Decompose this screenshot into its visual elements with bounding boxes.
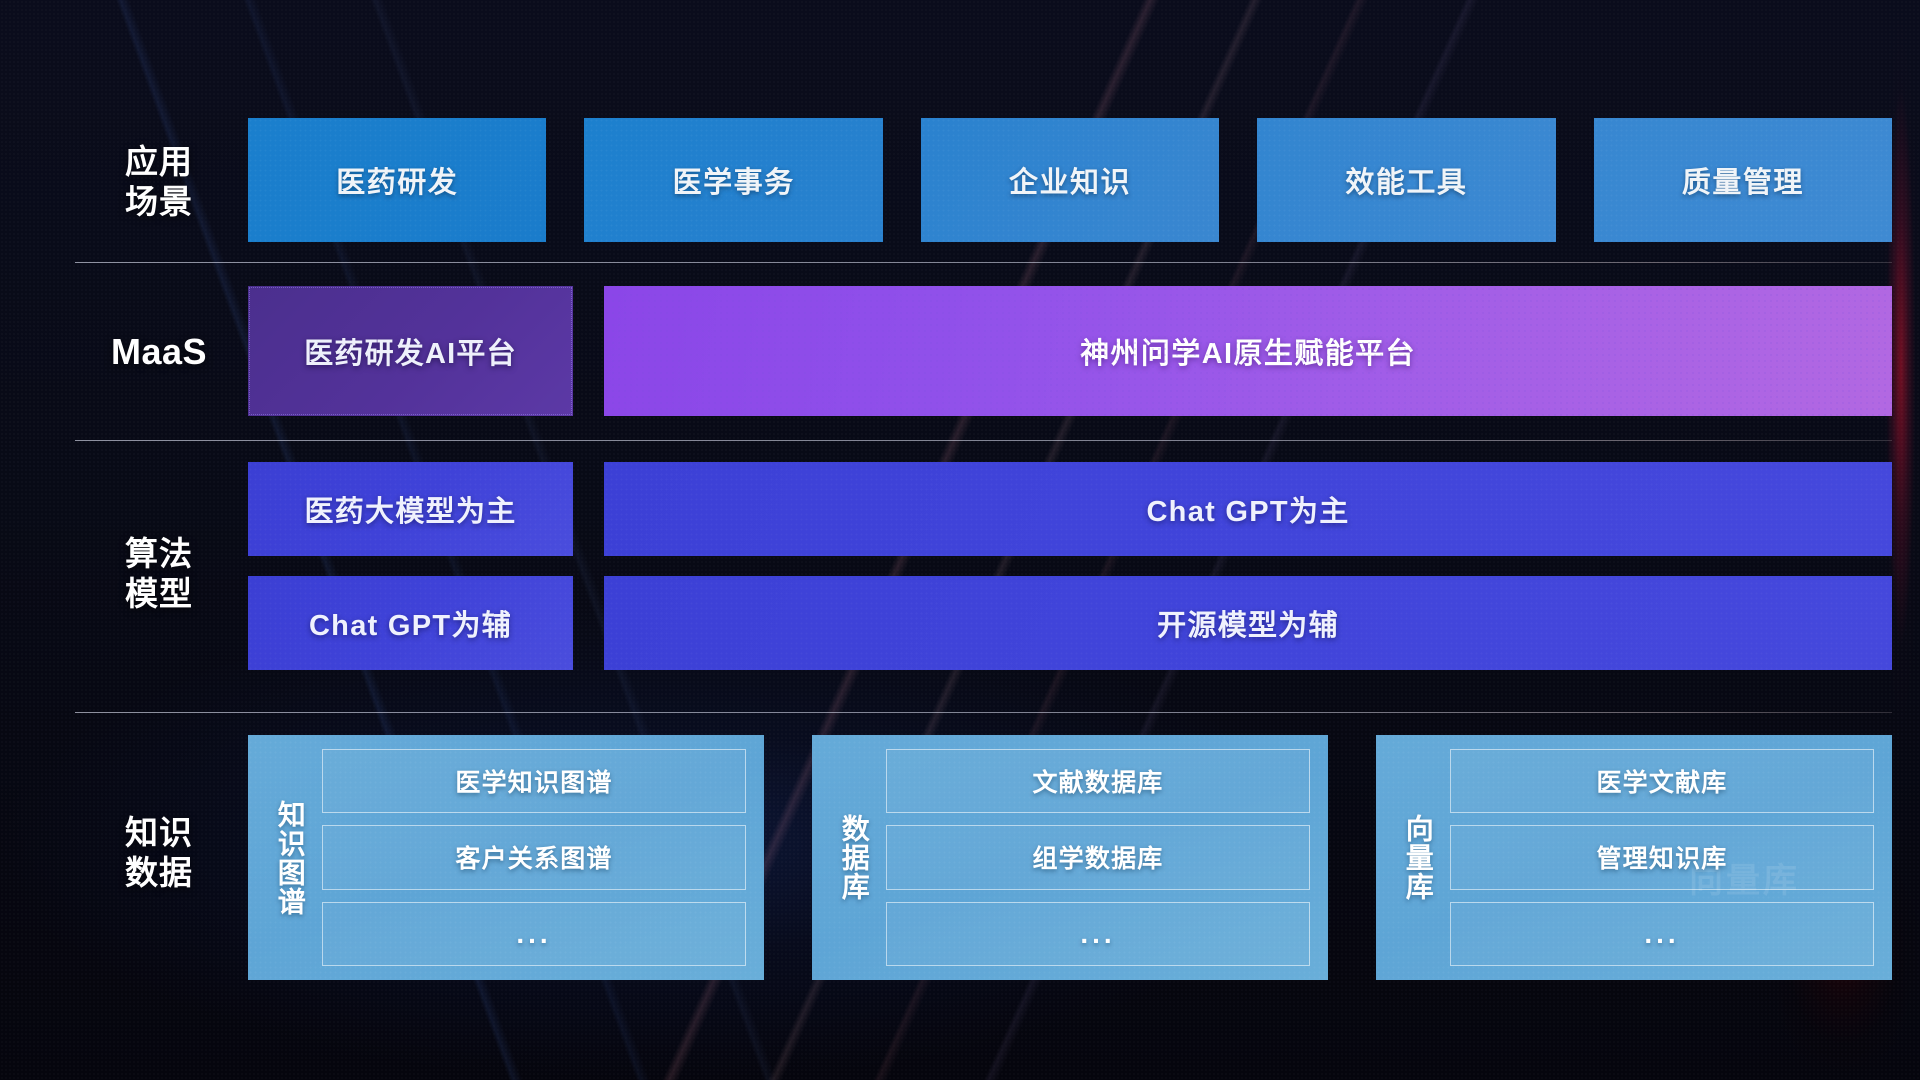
knowledge-group-title-graph: 知识图谱 [258,749,322,966]
knowledge-item-list-database: 文献数据库 组学数据库 ... [886,749,1310,966]
knowledge-item-more-vector-store[interactable]: ... [1450,902,1874,966]
application-card-quality-management[interactable]: 质量管理 [1594,118,1892,242]
knowledge-item-medical-literature-store[interactable]: 医学文献库 [1450,749,1874,813]
algorithm-card-chatgpt-primary[interactable]: Chat GPT为主 [604,462,1892,556]
knowledge-group-vector-store: 向量库 向量库 医学文献库 管理知识库 ... [1376,735,1892,980]
algorithm-card-chatgpt-secondary[interactable]: Chat GPT为辅 [248,576,573,670]
row-label-applications: 应用 场景 [84,142,234,223]
application-card-enterprise-knowledge[interactable]: 企业知识 [921,118,1219,242]
knowledge-group-title-vector-store: 向量库 [1386,749,1450,966]
knowledge-item-customer-relation-graph[interactable]: 客户关系图谱 [322,825,746,889]
maas-card-pharma-ai-platform[interactable]: 医药研发AI平台 [248,286,573,416]
maas-card-shenzhou-wenxue-platform[interactable]: 神州问学AI原生赋能平台 [604,286,1892,416]
row-knowledge-data: 知识 数据 知识图谱 医学知识图谱 客户关系图谱 ... 数据库 文献数据库 [0,735,1920,997]
divider-maas-algorithm [75,440,1892,441]
application-card-track: 医药研发 医学事务 企业知识 效能工具 质量管理 [248,118,1892,242]
knowledge-group-title-database: 数据库 [822,749,886,966]
divider-applications-maas [75,262,1892,263]
knowledge-group-track: 知识图谱 医学知识图谱 客户关系图谱 ... 数据库 文献数据库 组学数据库 .… [248,735,1892,980]
knowledge-item-omics-database[interactable]: 组学数据库 [886,825,1310,889]
application-card-efficiency-tools[interactable]: 效能工具 [1257,118,1555,242]
knowledge-group-database: 数据库 文献数据库 组学数据库 ... [812,735,1328,980]
diagram-canvas: 应用 场景 医药研发 医学事务 企业知识 效能工具 质量管理 MaaS 医药研发… [0,0,1920,1080]
knowledge-item-list-vector-store: 医学文献库 管理知识库 ... [1450,749,1874,966]
row-algorithm-model: 算法 模型 医药大模型为主 Chat GPT为辅 Chat GPT为主 开源模型… [0,462,1920,694]
knowledge-item-literature-database[interactable]: 文献数据库 [886,749,1310,813]
divider-algorithm-knowledge [75,712,1892,713]
knowledge-group-graph: 知识图谱 医学知识图谱 客户关系图谱 ... [248,735,764,980]
row-label-maas: MaaS [84,330,234,374]
knowledge-item-management-knowledge-store[interactable]: 管理知识库 [1450,825,1874,889]
row-applications: 应用 场景 医药研发 医学事务 企业知识 效能工具 质量管理 [0,118,1920,242]
application-card-medicine-rd[interactable]: 医药研发 [248,118,546,242]
algorithm-column-right: Chat GPT为主 开源模型为辅 [604,462,1892,670]
knowledge-item-list-graph: 医学知识图谱 客户关系图谱 ... [322,749,746,966]
row-label-algorithm-model: 算法 模型 [84,534,234,615]
algorithm-card-opensource-secondary[interactable]: 开源模型为辅 [604,576,1892,670]
row-maas: MaaS 医药研发AI平台 神州问学AI原生赋能平台 [0,286,1920,416]
application-card-medical-affairs[interactable]: 医学事务 [584,118,882,242]
knowledge-item-more-graph[interactable]: ... [322,902,746,966]
knowledge-item-medical-knowledge-graph[interactable]: 医学知识图谱 [322,749,746,813]
algorithm-card-pharma-llm-primary[interactable]: 医药大模型为主 [248,462,573,556]
row-label-knowledge-data: 知识 数据 [84,813,234,894]
algorithm-column-left: 医药大模型为主 Chat GPT为辅 [248,462,573,670]
knowledge-item-more-database[interactable]: ... [886,902,1310,966]
